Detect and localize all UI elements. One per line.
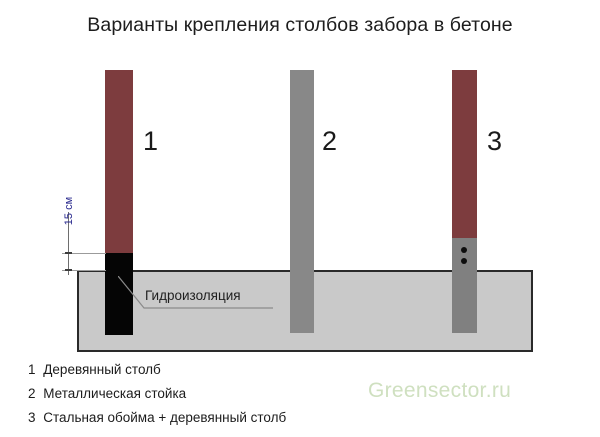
post-number-2: 2 <box>322 128 337 155</box>
legend-item-1-number: 1 <box>28 362 36 377</box>
collar-bolt-upper-icon <box>461 247 467 253</box>
post-number-1: 1 <box>143 128 158 155</box>
legend-item-2-number: 2 <box>28 386 36 401</box>
dimension-arrow-top-icon <box>65 252 72 254</box>
legend-item-3: 3 Стальная обойма + деревянный столб <box>28 410 428 425</box>
post-number-3: 3 <box>487 128 502 155</box>
legend-item-3-number: 3 <box>28 410 36 425</box>
dimension-arrow-bottom-icon <box>65 269 72 271</box>
dimension-label: 15 см <box>63 186 75 236</box>
watermark: Greensector.ru <box>368 379 511 403</box>
collar-bolt-lower-icon <box>461 258 467 264</box>
steel-collar-post-wood-shaft <box>452 70 477 238</box>
metal-post-shaft <box>290 70 314 333</box>
legend-item-1-label: Деревянный столб <box>43 362 161 377</box>
page-title: Варианты крепления столбов забора в бето… <box>0 14 600 37</box>
legend-item-3-label: Стальная обойма + деревянный столб <box>43 410 286 425</box>
waterproofing-label: Гидроизоляция <box>145 288 241 303</box>
wooden-post-shaft <box>105 70 133 253</box>
diagram-canvas: Варианты крепления столбов забора в бето… <box>0 0 600 437</box>
legend-item-1: 1 Деревянный столб <box>28 362 428 377</box>
legend-item-2-label: Металлическая стойка <box>43 386 186 401</box>
